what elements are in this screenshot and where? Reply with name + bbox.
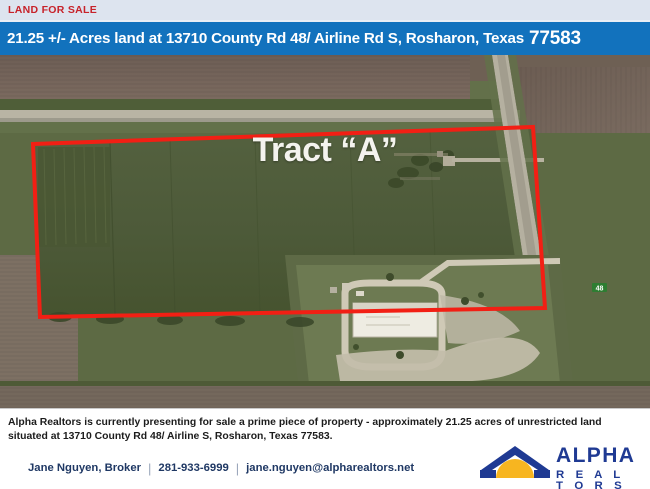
listing-flyer: LAND FOR SALE 21.25 +/- Acres land at 13… [0, 0, 650, 489]
alpha-realtors-logo: ALPHA R E A L T O R S [478, 440, 642, 484]
aerial-photo: 48 [0, 55, 650, 408]
title-bar: 21.25 +/- Acres land at 13710 County Rd … [0, 22, 650, 55]
logo-wordmark: ALPHA R E A L T O R S [556, 445, 642, 489]
broker-phone[interactable]: 281-933-6999 [158, 463, 228, 474]
description-line-1: Alpha Realtors is currently presenting f… [8, 416, 644, 430]
svg-text:48: 48 [596, 285, 604, 292]
aerial-photo-svg: 48 [0, 55, 650, 408]
page-title: 21.25 +/- Acres land at 13710 County Rd … [7, 31, 524, 46]
page-title-zip: 77583 [529, 29, 581, 48]
logo-brand: ALPHA [556, 445, 642, 466]
road-marker-48: 48 [592, 283, 607, 292]
house-arch-icon [478, 444, 552, 480]
contact-separator-2: | [236, 462, 239, 475]
broker-email[interactable]: jane.nguyen@alpharealtors.net [246, 463, 414, 474]
logo-subtitle: R E A L T O R S [556, 470, 642, 489]
broker-name: Jane Nguyen, Broker [28, 463, 141, 474]
land-for-sale-label: LAND FOR SALE [8, 5, 97, 16]
contact-separator-1: | [148, 462, 151, 475]
contact-line: Jane Nguyen, Broker | 281-933-6999 | jan… [28, 462, 414, 475]
eyebrow-bar: LAND FOR SALE [0, 0, 650, 20]
